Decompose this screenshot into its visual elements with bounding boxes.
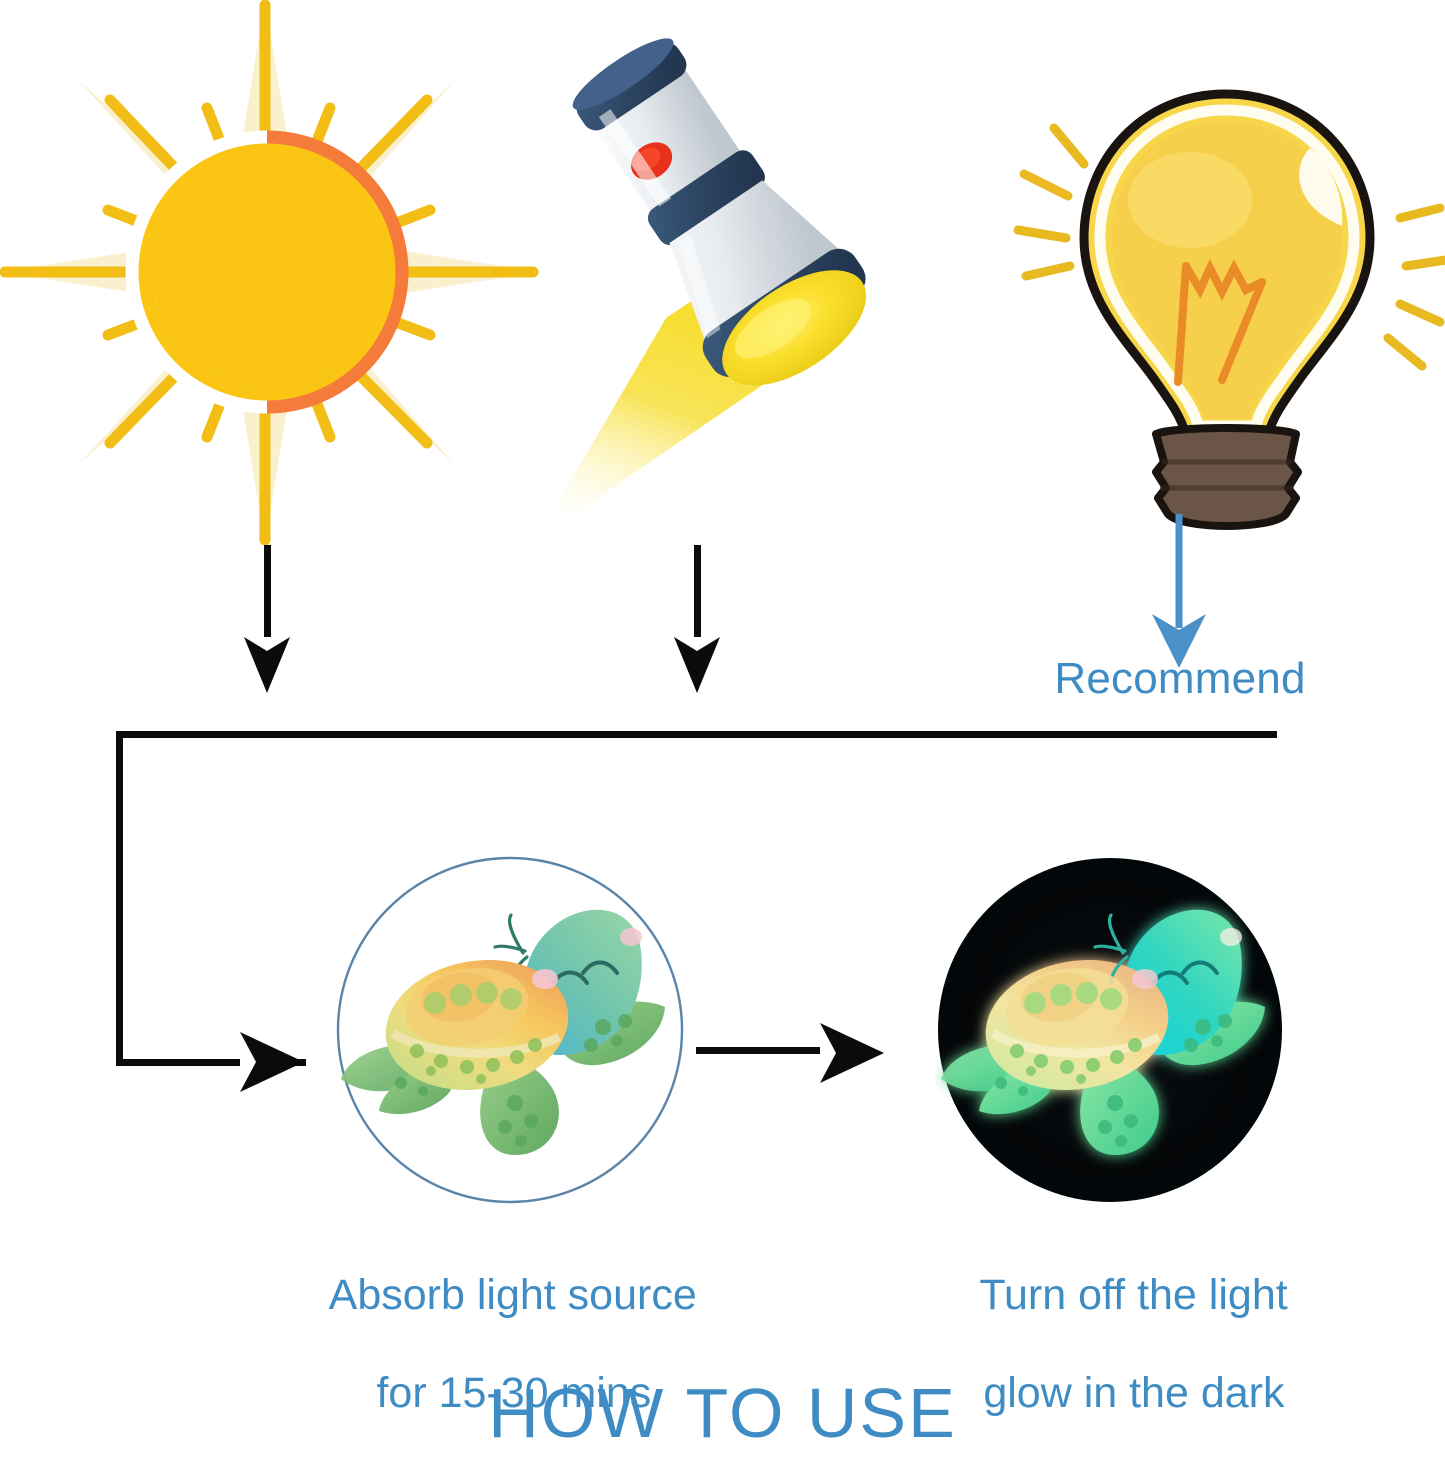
recommend-label: Recommend [1020,654,1340,704]
sun-icon [0,0,540,545]
light-bulb-icon [1010,70,1445,530]
step-glow-caption-line1: Turn off the light [979,1271,1287,1319]
flashlight-icon [470,20,970,620]
infographic-canvas: Recommend [0,0,1445,1457]
step-absorb-caption-line1: Absorb light source [329,1271,697,1319]
arrow-down-bulb-blue [1140,510,1220,675]
turtle-glow-icon [935,855,1285,1205]
page-title: HOW TO USE [0,1374,1445,1454]
turtle-lit-icon [335,855,685,1205]
